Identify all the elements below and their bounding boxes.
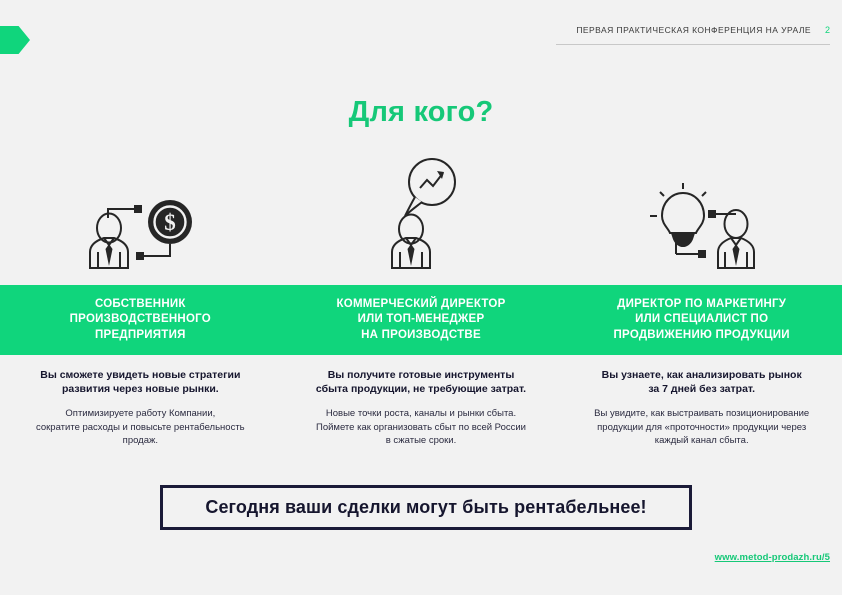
icon-cell-2 bbox=[281, 150, 562, 275]
lightbulb-with-businessman-icon bbox=[642, 176, 762, 271]
audience-cell-1: СОБСТВЕННИК ПРОИЗВОДСТВЕННОГО ПРЕДПРИЯТИ… bbox=[0, 285, 281, 355]
page-number: 2 bbox=[825, 24, 830, 36]
benefit-column-3: Вы узнаете, как анализировать рынок за 7… bbox=[561, 368, 842, 468]
slide-header: ПЕРВАЯ ПРАКТИЧЕСКАЯ КОНФЕРЕНЦИЯ НА УРАЛЕ… bbox=[576, 24, 830, 36]
audience-cell-3: ДИРЕКТОР ПО МАРКЕТИНГУ ИЛИ СПЕЦИАЛИСТ ПО… bbox=[561, 285, 842, 355]
website-link[interactable]: www.metod-prodazh.ru/5 bbox=[715, 552, 830, 563]
callout-text: Сегодня ваши сделки могут быть рентабель… bbox=[205, 497, 646, 518]
benefit-lead-3: Вы узнаете, как анализировать рынок за 7… bbox=[573, 368, 830, 396]
green-arrow-decoration bbox=[0, 26, 30, 54]
benefit-column-1: Вы сможете увидеть новые стратегии разви… bbox=[0, 368, 281, 468]
audience-cell-2: КОММЕРЧЕСКИЙ ДИРЕКТОР ИЛИ ТОП-МЕНЕДЖЕР Н… bbox=[281, 285, 562, 355]
audience-label-1: СОБСТВЕННИК ПРОИЗВОДСТВЕННОГО ПРЕДПРИЯТИ… bbox=[70, 297, 211, 344]
icon-cell-3 bbox=[561, 150, 842, 275]
svg-text:$: $ bbox=[165, 210, 177, 235]
audience-label-2: КОММЕРЧЕСКИЙ ДИРЕКТОР ИЛИ ТОП-МЕНЕДЖЕР Н… bbox=[337, 297, 506, 344]
audience-label-3: ДИРЕКТОР ПО МАРКЕТИНГУ ИЛИ СПЕЦИАЛИСТ ПО… bbox=[614, 297, 790, 344]
benefit-sub-2: Новые точки роста, каналы и рынки сбыта.… bbox=[293, 407, 550, 448]
businessman-with-dollar-coin-icon: $ bbox=[80, 176, 200, 271]
icons-row: $ bbox=[0, 150, 842, 275]
benefit-lead-2: Вы получите готовые инструменты сбыта пр… bbox=[293, 368, 550, 396]
benefit-column-2: Вы получите готовые инструменты сбыта пр… bbox=[281, 368, 562, 468]
benefits-row: Вы сможете увидеть новые стратегии разви… bbox=[0, 368, 842, 468]
benefit-lead-1: Вы сможете увидеть новые стратегии разви… bbox=[12, 368, 269, 396]
callout-box: Сегодня ваши сделки могут быть рентабель… bbox=[160, 485, 692, 530]
slide: ПЕРВАЯ ПРАКТИЧЕСКАЯ КОНФЕРЕНЦИЯ НА УРАЛЕ… bbox=[0, 0, 842, 595]
audience-band: СОБСТВЕННИК ПРОИЗВОДСТВЕННОГО ПРЕДПРИЯТИ… bbox=[0, 285, 842, 355]
page-title: Для кого? bbox=[0, 96, 842, 129]
icon-cell-1: $ bbox=[0, 150, 281, 275]
conference-title: ПЕРВАЯ ПРАКТИЧЕСКАЯ КОНФЕРЕНЦИЯ НА УРАЛЕ bbox=[576, 24, 811, 36]
businessman-with-growth-chart-bubble-icon bbox=[374, 156, 469, 271]
benefit-sub-3: Вы увидите, как выстраивать позициониров… bbox=[573, 407, 830, 448]
header-divider bbox=[556, 44, 830, 45]
benefit-sub-1: Оптимизируете работу Компании, сократите… bbox=[12, 407, 269, 448]
